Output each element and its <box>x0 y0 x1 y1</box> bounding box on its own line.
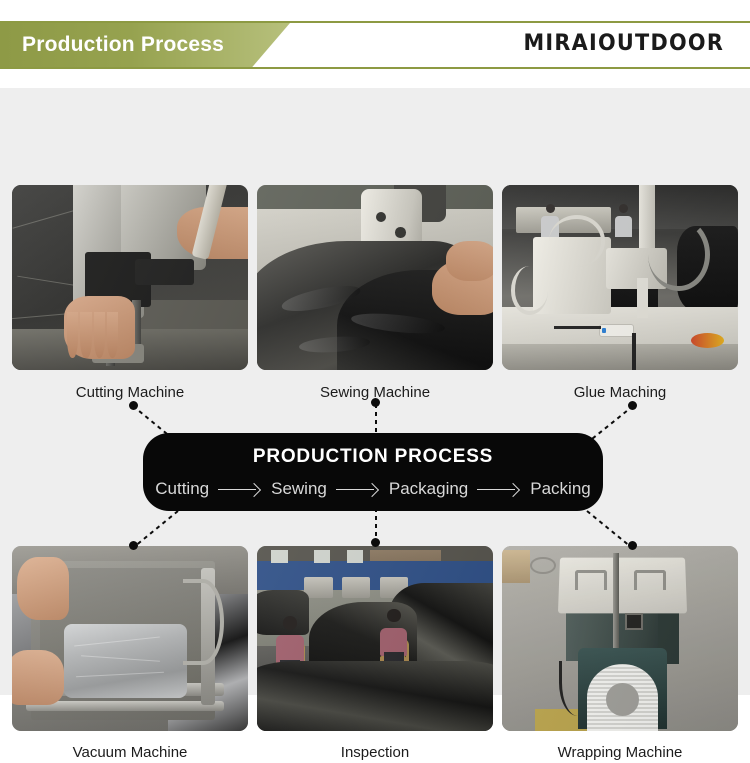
process-step-sewing: Sewing <box>271 477 327 501</box>
process-step-cutting: Cutting <box>155 477 209 501</box>
connector-dot-sewing <box>371 398 380 407</box>
production-process-box: PRODUCTION PROCESS Cutting Sewing Packag… <box>143 433 603 511</box>
vacuum-machine-photo <box>12 546 248 731</box>
connector-dot-glue <box>628 401 637 410</box>
card-glue-maching[interactable] <box>502 185 738 370</box>
caption-vacuum-machine: Vacuum Machine <box>12 743 248 763</box>
page-title: Production Process <box>22 30 224 60</box>
arrow-right-icon <box>477 482 521 496</box>
card-cutting-machine[interactable] <box>12 185 248 370</box>
process-step-packaging: Packaging <box>389 477 468 501</box>
header-bottom-rule <box>0 67 750 69</box>
connector-dot-cutting <box>129 401 138 410</box>
process-panel: Cutting Machine <box>0 88 750 695</box>
card-vacuum-machine[interactable] <box>12 546 248 731</box>
cutting-machine-photo <box>12 185 248 370</box>
card-sewing-machine[interactable] <box>257 185 493 370</box>
arrow-right-icon <box>336 482 380 496</box>
arrow-right-icon <box>218 482 262 496</box>
sewing-machine-photo <box>257 185 493 370</box>
production-process-page: Production Process MIRAIOUTDOOR <box>0 0 750 728</box>
caption-inspection: Inspection <box>257 743 493 763</box>
caption-wrapping-machine: Wrapping Machine <box>502 743 738 763</box>
process-box-heading: PRODUCTION PROCESS <box>143 445 603 469</box>
brand-logo: MIRAIOUTDOOR <box>523 31 724 56</box>
glue-machine-photo <box>502 185 738 370</box>
card-wrapping-machine[interactable] <box>502 546 738 731</box>
wrapping-machine-photo <box>502 546 738 731</box>
process-step-packing: Packing <box>530 477 590 501</box>
connector-dot-inspection <box>371 538 380 547</box>
header-top-rule <box>0 21 750 23</box>
page-header: Production Process MIRAIOUTDOOR <box>0 0 750 90</box>
process-step-list: Cutting Sewing Packaging Packing <box>143 476 603 502</box>
card-inspection[interactable] <box>257 546 493 731</box>
connector-dot-wrapping <box>628 541 637 550</box>
connector-dot-vacuum <box>129 541 138 550</box>
inspection-photo <box>257 546 493 731</box>
